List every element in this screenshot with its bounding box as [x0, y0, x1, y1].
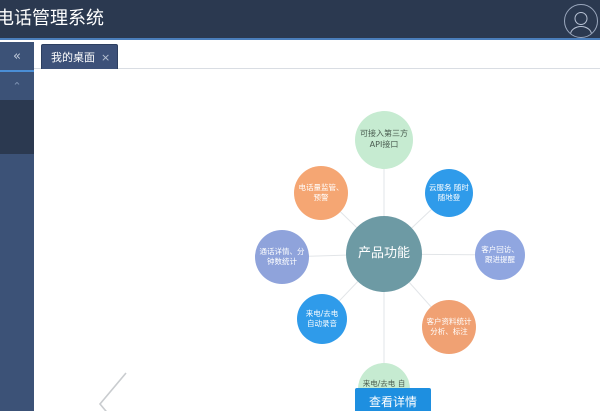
chevron-left-icon[interactable]	[94, 369, 134, 411]
diagram-node-detail[interactable]: 通话详情、分钟数统计	[255, 230, 309, 284]
sidebar-collapse-button[interactable]: «	[0, 42, 34, 72]
diagram-node-api[interactable]: 可接入第三方API接口	[355, 111, 413, 169]
node-label-monitor: 电话量监管、预警	[298, 183, 344, 203]
node-label-revisit: 客户回访、跟进提醒	[479, 245, 521, 265]
diagram-node-analysis[interactable]: 客户资料统计分析、标注	[422, 300, 476, 354]
tab-bar: 我的桌面 ×	[34, 42, 600, 69]
node-label-api: 可接入第三方API接口	[359, 129, 409, 151]
sidebar-scroll-up-button[interactable]: ⌃	[0, 72, 34, 100]
page-title: 电话管理系统	[0, 10, 104, 28]
tab-label: 我的桌面	[51, 49, 95, 65]
diagram-node-monitor[interactable]: 电话量监管、预警	[294, 166, 348, 220]
diagram-node-revisit[interactable]: 客户回访、跟进提醒	[475, 230, 525, 280]
app-root: 电话管理系统 « ⌃ 我的桌面 × 可接入第三方API接口云服务 随时随地登客户…	[0, 0, 600, 411]
chevron-up-icon: ⌃	[12, 80, 21, 93]
node-label-detail: 通话详情、分钟数统计	[259, 247, 305, 267]
view-details-button[interactable]: 查看详情	[355, 388, 431, 411]
tab-my-desktop[interactable]: 我的桌面 ×	[41, 44, 118, 69]
close-icon[interactable]: ×	[101, 52, 110, 63]
sidebar: « ⌃	[0, 42, 34, 411]
content-panel: 我的桌面 × 可接入第三方API接口云服务 随时随地登客户回访、跟进提醒客户资料…	[34, 42, 600, 411]
sidebar-item-active[interactable]	[0, 100, 34, 154]
center-node-label: 产品功能	[358, 245, 410, 263]
node-label-record: 来电/去电 自动录音	[301, 309, 343, 329]
user-avatar-icon[interactable]	[564, 4, 598, 38]
diagram-center-node[interactable]: 产品功能	[346, 216, 422, 292]
node-label-cloud: 云服务 随时随地登	[429, 183, 469, 203]
avatar-button[interactable]	[564, 4, 598, 38]
product-feature-diagram: 可接入第三方API接口云服务 随时随地登客户回访、跟进提醒客户资料统计分析、标注…	[34, 69, 600, 411]
node-label-analysis: 客户资料统计分析、标注	[426, 317, 472, 337]
double-chevron-left-icon: «	[13, 49, 21, 64]
app-header: 电话管理系统	[0, 0, 600, 40]
diagram-node-record[interactable]: 来电/去电 自动录音	[297, 294, 347, 344]
diagram-node-cloud[interactable]: 云服务 随时随地登	[425, 169, 473, 217]
